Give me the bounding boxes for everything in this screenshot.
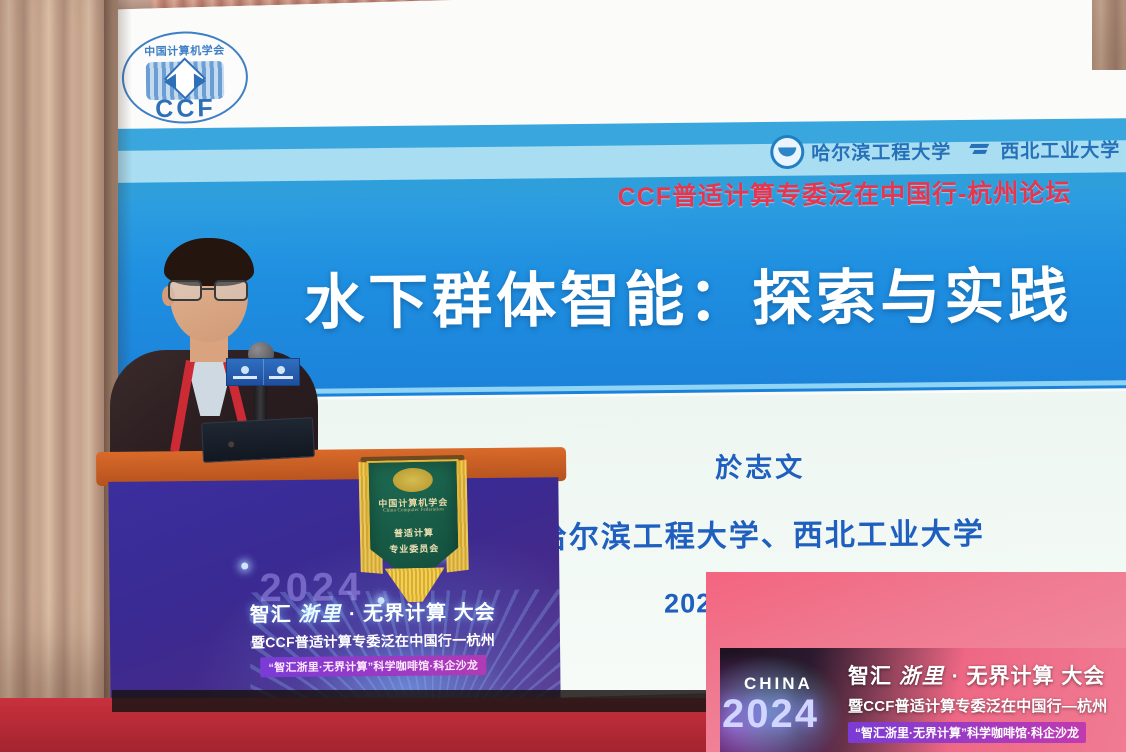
nwpu-name: 西北工业大学 — [1000, 135, 1120, 163]
banner-china-label: CHINA — [744, 674, 813, 694]
pennant-line-4: 专业委员会 — [370, 541, 458, 556]
university-logo-heu: 哈尔滨工程大学 — [770, 133, 951, 169]
nwpu-mark-icon — [967, 140, 993, 160]
podium-title-pre: 智汇 — [250, 604, 292, 626]
ccf-triangle-left-icon — [164, 74, 176, 90]
conference-photo: 中国计算机学会 CCF 哈尔滨工程大学 西北工业大学 CCF普适计算专委泛在中国… — [0, 0, 1126, 752]
banner-title-pre: 智汇 — [848, 665, 892, 688]
stage-curtain-right — [1092, 0, 1126, 70]
banner-title-post: · 无界计算 大会 — [952, 665, 1106, 688]
heu-seal-icon — [770, 135, 804, 169]
mic-flag-bar — [269, 376, 293, 379]
podium-tagline: “智汇浙里·无界计算”科学咖啡馆·科企沙龙 — [260, 655, 486, 677]
slide-subtitle: CCF普适计算专委泛在中国行-杭州论坛 — [431, 173, 1071, 215]
mic-flag-dot-icon — [241, 366, 249, 374]
pennant-line-3: 普适计算 — [370, 525, 458, 540]
pennant-line-2: China Computer Federation — [369, 507, 457, 514]
mic-flag-dot-icon — [277, 366, 285, 374]
laptop[interactable] — [201, 417, 315, 463]
podium-light-dot — [241, 562, 248, 569]
ccf-logo: 中国计算机学会 CCF — [119, 24, 251, 130]
mic-flag-bar — [233, 376, 257, 379]
microphone-flag — [226, 358, 300, 386]
banner-tagline: “智汇浙里·无界计算”科学咖啡馆·科企沙龙 — [848, 722, 1086, 743]
ccf-triangle-right-icon — [194, 73, 206, 89]
banner-subtitle: 暨CCF普适计算专委泛在中国行—杭州 — [848, 695, 1124, 716]
glasses-icon — [166, 280, 254, 302]
banner-title: 智汇 浙里 · 无界计算 大会 — [848, 660, 1124, 690]
banner-title-em: 浙里 — [899, 664, 945, 688]
banner-text-block: 智汇 浙里 · 无界计算 大会 暨CCF普适计算专委泛在中国行—杭州 “智汇浙里… — [848, 660, 1124, 743]
mic-flag-logo-right — [264, 359, 300, 385]
ccf-logo-acronym: CCF — [120, 93, 250, 124]
speaker-hair — [164, 238, 254, 286]
stage-edge-shadow — [112, 690, 752, 712]
heu-name: 哈尔滨工程大学 — [811, 137, 951, 165]
slide-title: 水下群体智能：探索与实践 — [304, 247, 1105, 341]
glasses-lens-right — [214, 280, 248, 301]
pennant-emblem-icon — [393, 468, 433, 493]
podium-title-em: 浙里 — [298, 603, 342, 625]
university-logo-nwpu: 西北工业大学 — [967, 135, 1120, 164]
ccf-pennant: 中国计算机学会 China Computer Federation 普适计算 专… — [356, 449, 472, 621]
conference-banner: CHINA 2024 智汇 浙里 · 无界计算 大会 暨CCF普适计算专委泛在中… — [720, 648, 1126, 752]
glasses-bridge — [202, 288, 214, 290]
banner-year: 2024 — [722, 692, 819, 737]
laptop-screen — [201, 417, 315, 463]
glasses-lens-left — [168, 280, 202, 301]
mic-flag-logo-left — [227, 359, 264, 385]
podium-subtitle: 暨CCF普适计算专委泛在中国行一杭州 — [238, 630, 508, 653]
university-logos: 哈尔滨工程大学 西北工业大学 — [770, 131, 1120, 169]
pennant-fringe-bottom — [385, 567, 446, 602]
